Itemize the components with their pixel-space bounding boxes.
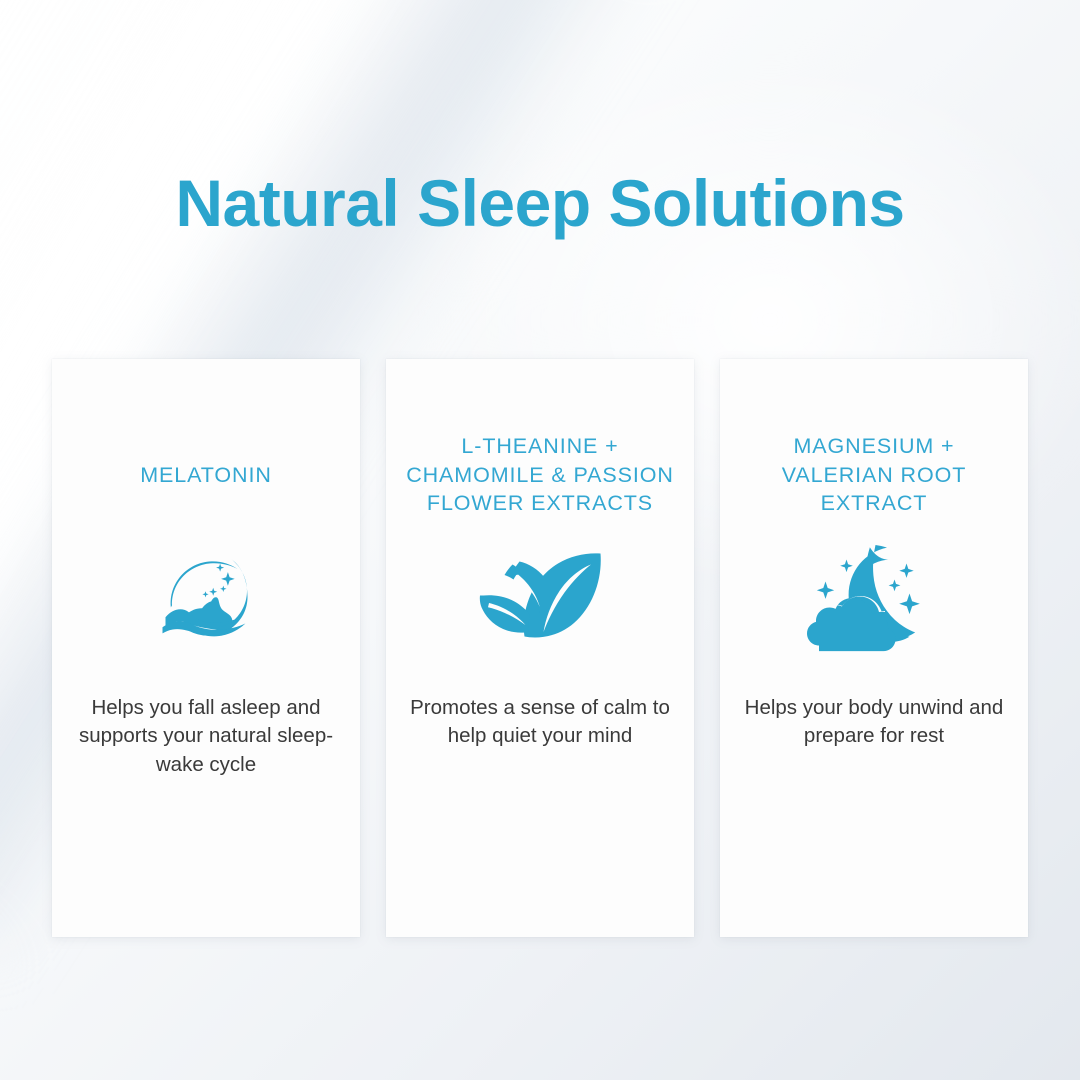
card-heading: MAGNESIUM + VALERIAN ROOT EXTRACT (728, 421, 1020, 529)
ingredient-card-melatonin[interactable]: MELATONIN (52, 359, 360, 937)
infographic-page: Natural Sleep Solutions MELATONIN (0, 0, 1080, 1080)
leaves-icon (386, 537, 694, 657)
sleeping-person-moon-icon (52, 537, 360, 657)
moon-cloud-stars-icon (720, 537, 1028, 657)
ingredient-cards-row: MELATONIN (52, 359, 1028, 937)
card-heading: MELATONIN (60, 421, 352, 529)
card-description: Promotes a sense of calm to help quiet y… (400, 694, 680, 751)
ingredient-card-magnesium[interactable]: MAGNESIUM + VALERIAN ROOT EXTRACT (720, 359, 1028, 937)
card-description: Helps you fall asleep and supports your … (66, 694, 346, 779)
page-title: Natural Sleep Solutions (0, 168, 1080, 239)
ingredient-card-l-theanine[interactable]: L-THEANINE + CHAMOMILE & PASSION FLOWER … (386, 359, 694, 937)
card-description: Helps your body unwind and prepare for r… (734, 694, 1014, 751)
card-heading: L-THEANINE + CHAMOMILE & PASSION FLOWER … (394, 421, 686, 529)
